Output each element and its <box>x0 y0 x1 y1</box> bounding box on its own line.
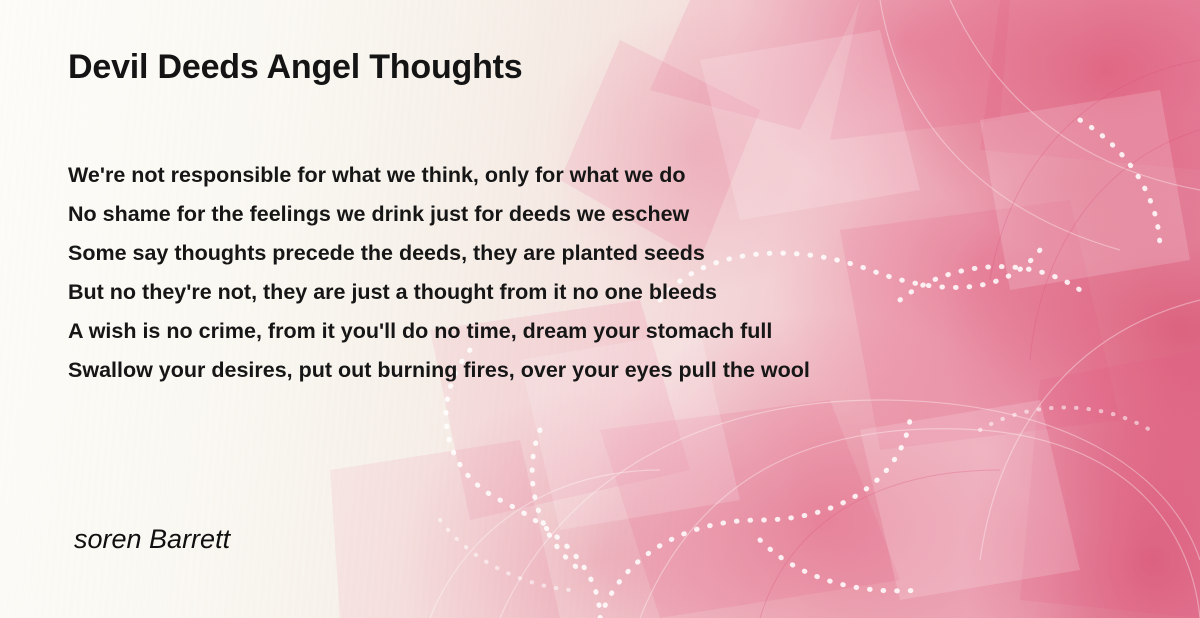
poem-line: We're not responsible for what we think,… <box>68 156 1188 195</box>
poem-line: Some say thoughts precede the deeds, the… <box>68 234 1188 273</box>
poem-author: soren Barrett <box>74 524 230 555</box>
poem-line: But no they're not, they are just a thou… <box>68 273 1188 312</box>
poem-text-block: Devil Deeds Angel Thoughts We're not res… <box>0 0 1200 618</box>
page-title: Devil Deeds Angel Thoughts <box>68 48 522 87</box>
poem-lines: We're not responsible for what we think,… <box>68 156 1188 390</box>
poem-image-card: Devil Deeds Angel Thoughts We're not res… <box>0 0 1200 618</box>
poem-line: A wish is no crime, from it you'll do no… <box>68 312 1188 351</box>
poem-line: Swallow your desires, put out burning fi… <box>68 351 1188 390</box>
poem-line: No shame for the feelings we drink just … <box>68 195 1188 234</box>
